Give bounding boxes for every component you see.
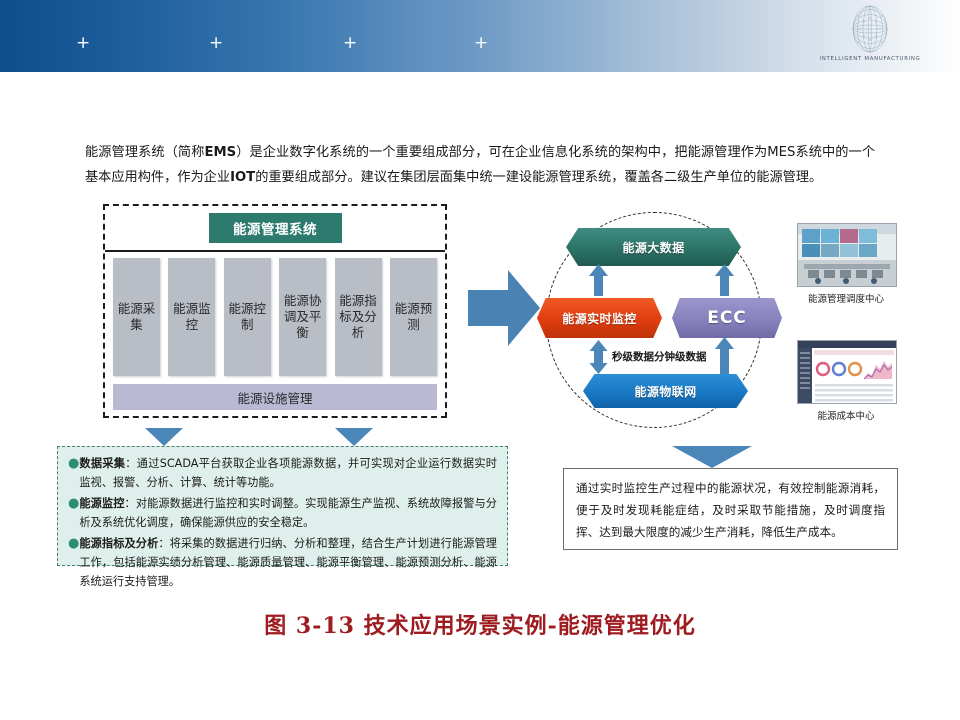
right-benefit-textbox: 通过实时监控生产过程中的能源状况，有效控制能源消耗，便于及时发现耗能症结，及时采… <box>563 468 898 550</box>
photo-cost-center <box>797 340 897 404</box>
photo-card-dispatch: 能源管理调度中心 <box>797 223 895 305</box>
arch-col-forecast: 能源预测 <box>390 258 437 376</box>
bullet-sep-2: ： <box>158 537 169 550</box>
intro-paragraph: 能源管理系统（简称EMS）是企业数字化系统的一个重要组成部分，可在企业信息化系统… <box>85 140 875 190</box>
slide-root: + + + + <box>0 0 960 720</box>
header-plus-3: + <box>343 35 357 52</box>
connector-triangles-left <box>145 428 375 448</box>
architecture-diagram: 能源管理系统 能源采集 能源监控 能源控制 能源协调及平衡 能源指标及分析 能源… <box>103 204 447 418</box>
bullet-sep-0: ： <box>125 457 137 470</box>
photo-caption-dispatch: 能源管理调度中心 <box>797 291 895 305</box>
intro-iot-term: IOT <box>230 170 255 185</box>
photo-dispatch-center <box>797 223 897 287</box>
intro-line2-c: 的重要组成部分。建议在集团层面集中统一建设能源管理系统，覆盖各二级生产单位的能源… <box>255 170 822 185</box>
bullet-item-monitor: ● 能源监控：对能源数据进行监控和实时调整。实现能源生产监视、系统故障报警与分析… <box>68 494 497 533</box>
photo-card-cost: 能源成本中心 <box>797 340 895 422</box>
cycle-label-seconds: 秒级数据 <box>612 349 654 364</box>
bullet-title-monitor: 能源监控 <box>79 497 124 510</box>
architecture-columns: 能源采集 能源监控 能源控制 能源协调及平衡 能源指标及分析 能源预测 <box>113 258 437 376</box>
header-plus-1: + <box>76 35 90 52</box>
brand-logo: INTELLIGENT MANUFACTURING <box>810 4 930 70</box>
cycle-label-minutes: 分钟级数据 <box>654 349 707 364</box>
bullet-title-indicator: 能源指标及分析 <box>79 537 158 550</box>
bullet-item-collect: ● 数据采集：通过SCADA平台获取企业各项能源数据，并可实现对企业运行数据实时… <box>68 454 497 493</box>
figure-caption: 图 3-13 技术应用场景实例-能源管理优化 <box>0 608 960 640</box>
cycle-arrows <box>528 206 778 438</box>
bullet-dot-icon: ● <box>68 454 79 493</box>
header-plus-2: + <box>209 35 223 52</box>
intro-line1-a: 能源管理系统（简称 <box>85 145 205 160</box>
header-banner: + + + + <box>0 0 960 72</box>
arch-col-balance: 能源协调及平衡 <box>279 258 326 376</box>
architecture-title-row: 能源管理系统 <box>105 206 445 252</box>
connector-triangle-right <box>672 446 752 468</box>
arch-col-monitor: 能源监控 <box>168 258 215 376</box>
bullet-body-collect: 通过SCADA平台获取企业各项能源数据，并可实现对企业运行数据实时监视、报警、分… <box>79 457 497 489</box>
bullet-item-indicator: ● 能源指标及分析：将采集的数据进行归纳、分析和整理，结合生产计划进行能源管理工… <box>68 534 497 592</box>
bullet-dot-icon: ● <box>68 494 79 533</box>
architecture-footer: 能源设施管理 <box>113 384 437 410</box>
header-plus-4: + <box>474 35 488 52</box>
energy-cycle-diagram: 能源大数据 能源实时监控 ECC 能源物联网 <box>528 206 778 438</box>
architecture-title: 能源管理系统 <box>209 213 342 243</box>
arch-col-indicator: 能源指标及分析 <box>335 258 382 376</box>
bullet-body-monitor: 对能源数据进行监控和实时调整。实现能源生产监视、系统故障报警与分析及系统优化调度… <box>79 497 497 529</box>
bullet-dot-icon: ● <box>68 534 79 592</box>
arch-col-collect: 能源采集 <box>113 258 160 376</box>
intro-ems-term: EMS <box>205 145 237 160</box>
bullet-sep-1: ： <box>125 497 136 510</box>
photo-caption-cost: 能源成本中心 <box>797 408 895 422</box>
bullet-title-collect: 数据采集 <box>79 457 125 470</box>
left-detail-textbox: ● 数据采集：通过SCADA平台获取企业各项能源数据，并可实现对企业运行数据实时… <box>57 446 508 566</box>
logo-wordmark: INTELLIGENT MANUFACTURING <box>810 56 930 62</box>
globe-wireframe-icon <box>842 4 898 54</box>
arch-col-control: 能源控制 <box>224 258 271 376</box>
intro-line2-a: 应用构件，作为企业 <box>111 170 230 185</box>
